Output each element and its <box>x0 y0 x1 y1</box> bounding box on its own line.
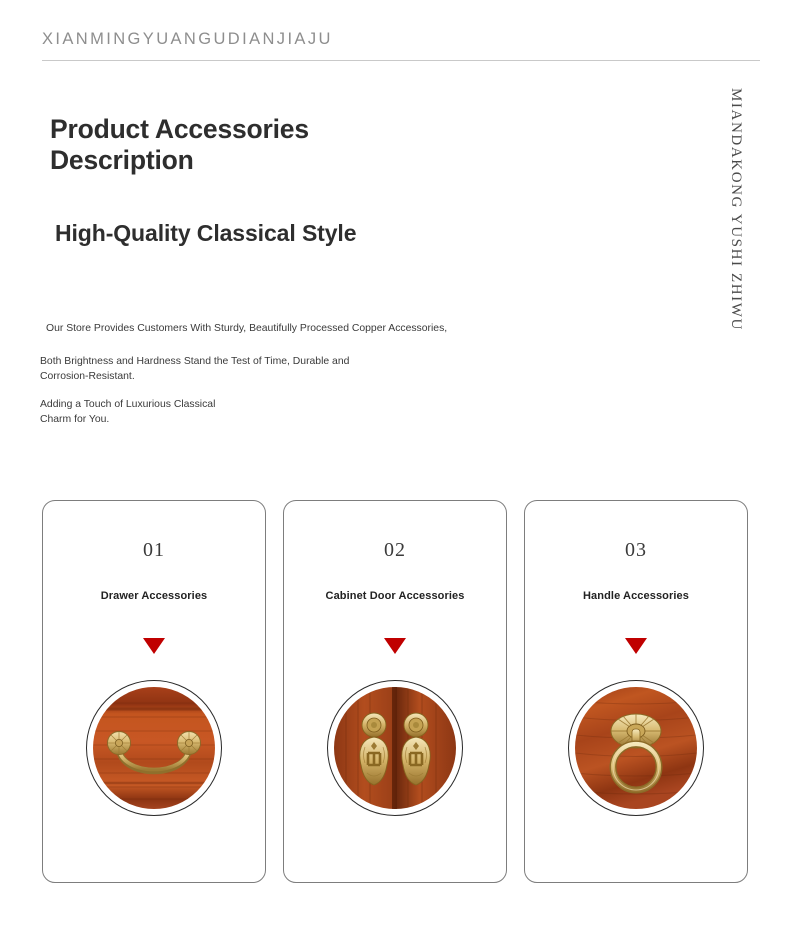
card-label: Cabinet Door Accessories <box>326 590 465 602</box>
photo-ring <box>327 680 463 816</box>
cabinet-door-plates-photo <box>334 687 456 809</box>
brand-name: XIANMINGYUANGUDIANJIAJU <box>42 30 662 49</box>
down-triangle-icon <box>143 638 165 654</box>
description-line-4: Adding a Touch of Luxurious Classical <box>40 398 540 413</box>
description-line-5: Charm for You. <box>40 413 540 428</box>
photo-ring <box>568 680 704 816</box>
side-vertical-label: MIANDAKONG YUSHI ZHIWU <box>724 88 750 338</box>
card-number: 02 <box>384 539 406 562</box>
accessory-card-drawer[interactable]: 01 Drawer Accessories <box>42 500 266 883</box>
ring-pull-illustration <box>575 687 697 809</box>
page-subtitle: High-Quality Classical Style <box>55 220 485 247</box>
description-paragraph-1: Our Store Provides Customers With Sturdy… <box>40 322 540 337</box>
headline-line-1: Product Accessories <box>50 114 480 145</box>
accessory-card-list: 01 Drawer Accessories <box>42 500 748 883</box>
page-root: XIANMINGYUANGUDIANJIAJU MIANDAKONG YUSHI… <box>0 0 790 926</box>
drawer-pull-illustration <box>93 687 215 809</box>
subheadline-text: High-Quality Classical Style <box>55 220 485 247</box>
description-line-3: Corrosion-Resistant. <box>40 370 540 385</box>
photo-ring <box>86 680 222 816</box>
card-label: Handle Accessories <box>583 590 689 602</box>
page-title: Product Accessories Description <box>50 114 480 175</box>
ring-pull-photo <box>575 687 697 809</box>
description-line-1: Our Store Provides Customers With Sturdy… <box>40 322 540 337</box>
card-number: 03 <box>625 539 647 562</box>
accessory-card-cabinet-door[interactable]: 02 Cabinet Door Accessories <box>283 500 507 883</box>
cabinet-door-plates-illustration <box>334 687 456 809</box>
side-vertical-text: MIANDAKONG YUSHI ZHIWU <box>727 88 744 331</box>
description-text-block: Our Store Provides Customers With Sturdy… <box>40 322 540 428</box>
description-paragraph-3: Adding a Touch of Luxurious Classical Ch… <box>40 398 540 428</box>
header-divider <box>42 60 760 61</box>
down-triangle-icon <box>384 638 406 654</box>
card-label: Drawer Accessories <box>101 590 208 602</box>
headline-line-2: Description <box>50 145 480 176</box>
card-number: 01 <box>143 539 165 562</box>
down-triangle-icon <box>625 638 647 654</box>
drawer-pull-photo <box>93 687 215 809</box>
description-line-2: Both Brightness and Hardness Stand the T… <box>40 355 540 370</box>
accessory-card-handle[interactable]: 03 Handle Accessories <box>524 500 748 883</box>
brand-header: XIANMINGYUANGUDIANJIAJU <box>42 30 662 49</box>
description-paragraph-2: Both Brightness and Hardness Stand the T… <box>40 355 540 385</box>
